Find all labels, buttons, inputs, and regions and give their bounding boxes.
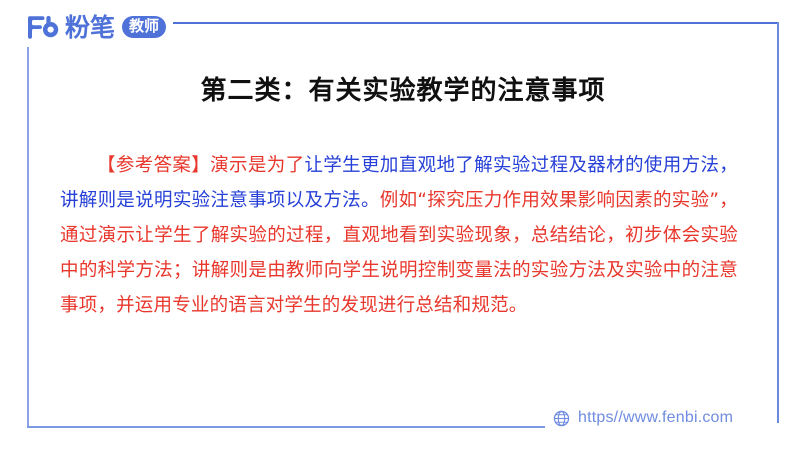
globe-icon (553, 410, 570, 427)
footer-url: https//www.fenbi.com (578, 409, 733, 427)
brand-logo: 粉笔 教师 (26, 11, 166, 43)
frame-border-bottom (27, 426, 545, 428)
frame-border-top (173, 22, 779, 24)
slide-canvas: 粉笔 教师 第二类：有关实验教学的注意事项 【参考答案】演示是为了让学生更加直观… (0, 0, 800, 450)
answer-segment-red-intro: 【参考答案】演示是为了 (97, 155, 304, 176)
answer-body: 【参考答案】演示是为了让学生更加直观地了解实验过程及器材的使用方法，讲解则是说明… (60, 148, 738, 323)
fb-logo-icon (26, 14, 60, 40)
footer: https//www.fenbi.com (553, 409, 733, 427)
brand-badge: 教师 (122, 16, 166, 38)
page-title: 第二类：有关实验教学的注意事项 (28, 70, 778, 107)
answer-paragraph: 【参考答案】演示是为了让学生更加直观地了解实验过程及器材的使用方法，讲解则是说明… (60, 148, 738, 323)
brand-wordmark: 粉笔 (65, 15, 115, 40)
